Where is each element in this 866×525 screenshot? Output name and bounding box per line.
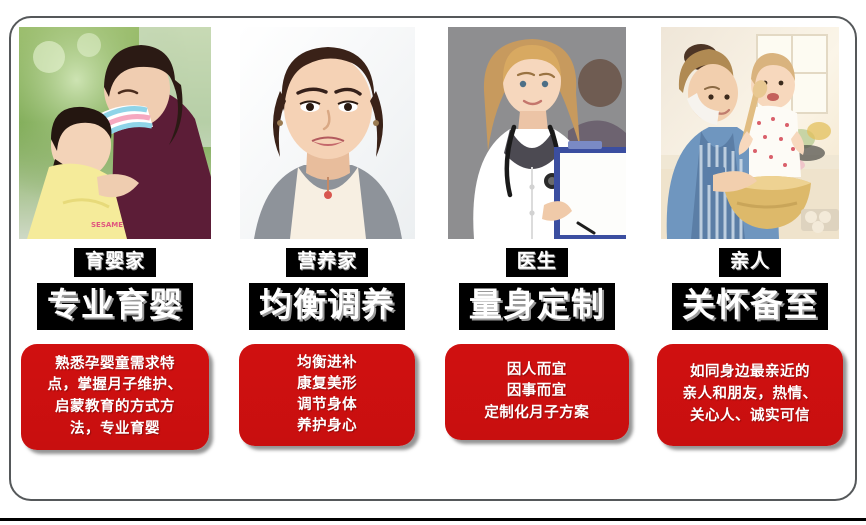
detail-card: 因人而宜 因事而宜 定制化月子方案 <box>445 344 629 440</box>
role-badge: 营养家 <box>286 248 368 277</box>
role-badge: 育婴家 <box>74 248 156 277</box>
headline-badge: 均衡调养 <box>249 283 405 330</box>
poster-canvas: SESAME 育婴家 专业育婴 熟悉孕婴童需求特 点，掌握月子维护、 启蒙教育的… <box>0 0 866 525</box>
role-badge: 亲人 <box>719 248 781 277</box>
photo-mother-and-girl: SESAME <box>19 27 211 239</box>
photo-woman-portrait <box>240 27 415 239</box>
svg-text:SESAME: SESAME <box>91 221 123 229</box>
detail-card: 如同身边最亲近的 亲人和朋友，热情、 关心人、诚实可信 <box>657 344 843 446</box>
feature-column-qinren: 亲人 关怀备至 如同身边最亲近的 亲人和朋友，热情、 关心人、诚实可信 <box>644 27 856 446</box>
feature-column-yisheng: 医生 量身定制 因人而宜 因事而宜 定制化月子方案 <box>434 27 639 440</box>
headline-badge: 量身定制 <box>459 283 615 330</box>
detail-text: 熟悉孕婴童需求特 点，掌握月子维护、 启蒙教育的方式方 法，专业育婴 <box>48 354 183 441</box>
role-badge: 医生 <box>506 248 568 277</box>
feature-column-yingyangjia: 营养家 均衡调养 均衡进补 康复美形 调节身体 养护身心 <box>225 27 430 446</box>
feature-columns: SESAME 育婴家 专业育婴 熟悉孕婴童需求特 点，掌握月子维护、 启蒙教育的… <box>10 27 856 487</box>
photo-female-doctor <box>448 27 626 239</box>
detail-text: 因人而宜 因事而宜 定制化月子方案 <box>484 360 589 423</box>
headline-badge: 关怀备至 <box>672 283 828 330</box>
headline-badge: 专业育婴 <box>37 283 193 330</box>
detail-text: 均衡进补 康复美形 调节身体 养护身心 <box>297 353 357 437</box>
detail-card: 均衡进补 康复美形 调节身体 养护身心 <box>239 344 415 446</box>
photo-mother-baby-kitchen <box>661 27 839 239</box>
detail-card: 熟悉孕婴童需求特 点，掌握月子维护、 启蒙教育的方式方 法，专业育婴 <box>21 344 209 450</box>
detail-text: 如同身边最亲近的 亲人和朋友，热情、 关心人、诚实可信 <box>682 362 817 427</box>
bottom-divider-rule <box>0 518 866 521</box>
feature-column-yuyingjia: SESAME 育婴家 专业育婴 熟悉孕婴童需求特 点，掌握月子维护、 启蒙教育的… <box>10 27 220 450</box>
